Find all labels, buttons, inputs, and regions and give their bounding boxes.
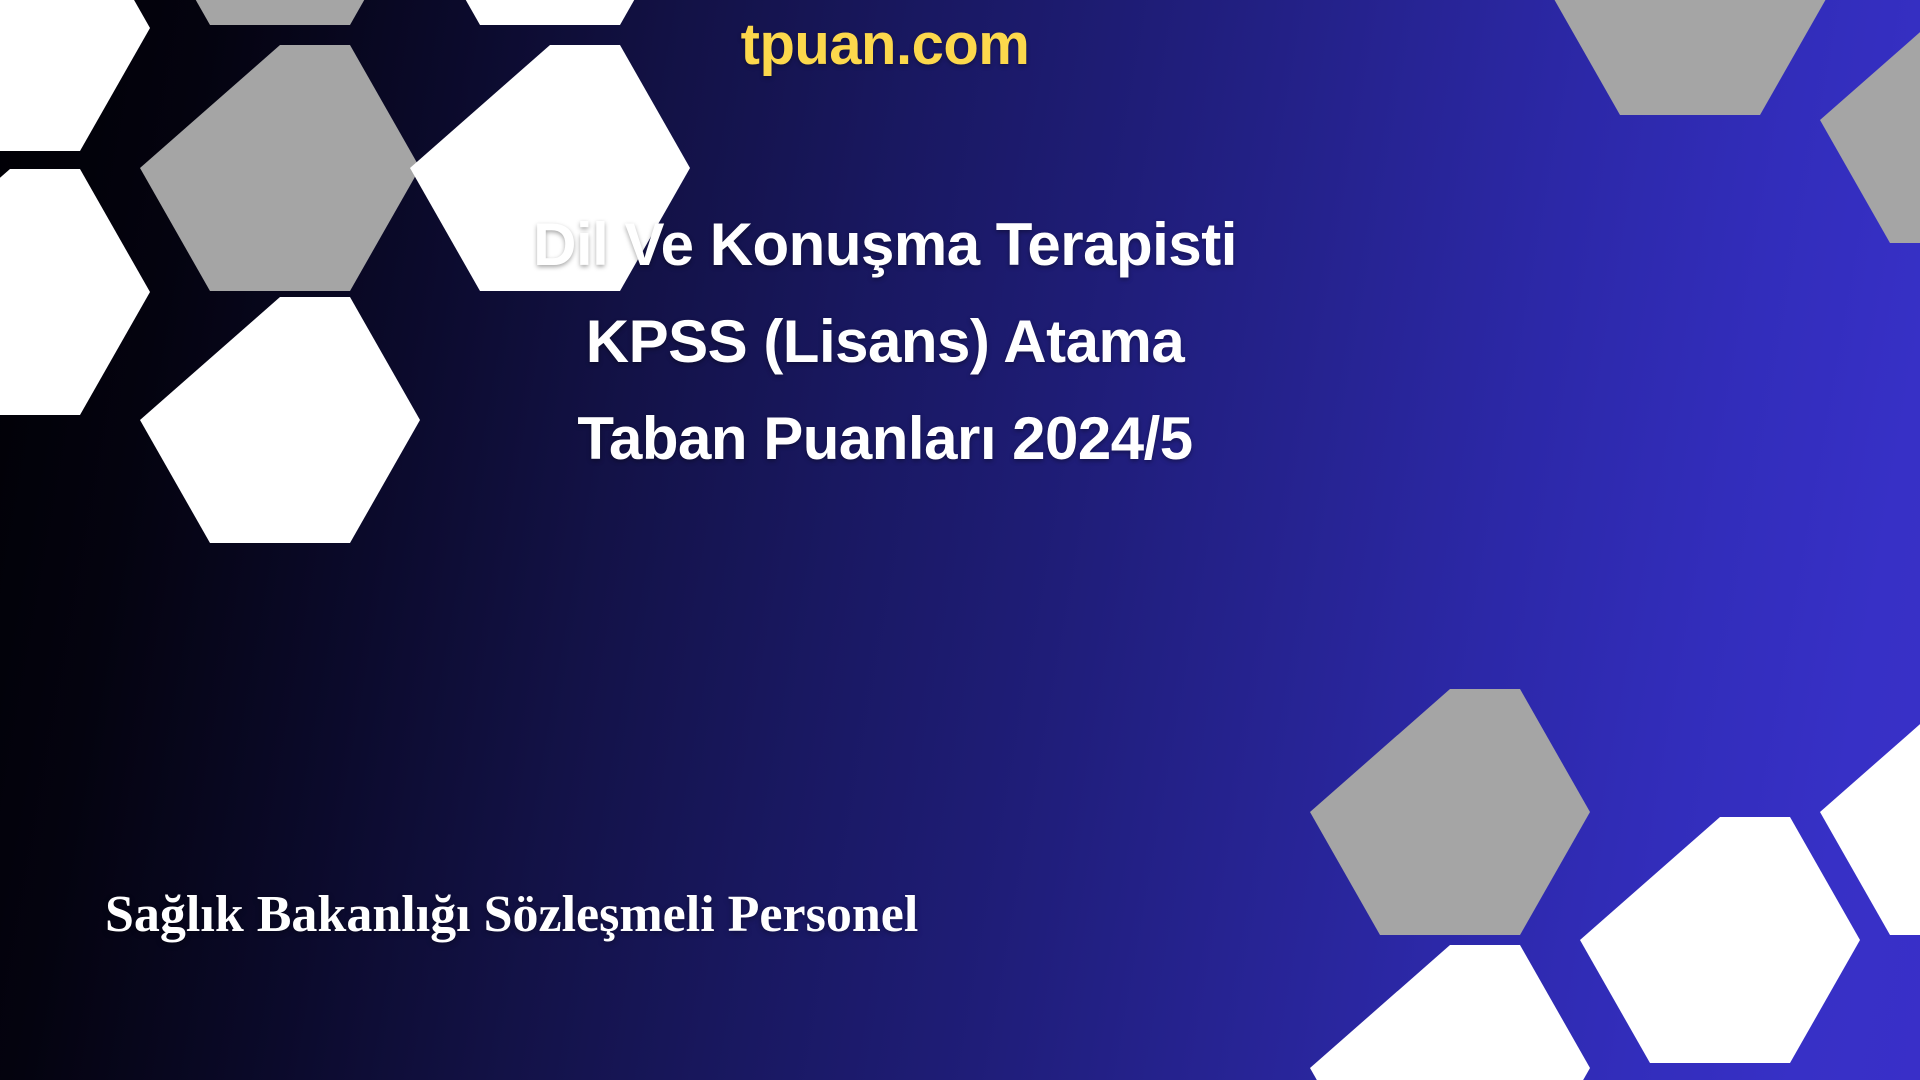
hex-br-white-1	[1580, 817, 1860, 1063]
hex-tl-white-4	[0, 169, 150, 415]
title-line-1: Dil Ve Konuşma Terapisti	[330, 196, 1440, 293]
banner-canvas: tpuan.com Dil Ve Konuşma Terapisti KPSS …	[0, 0, 1920, 1080]
hex-br-white-2	[1310, 945, 1590, 1080]
brand-logo-text: tpuan.com	[330, 8, 1440, 82]
hex-tr-gray-2	[1820, 0, 1920, 243]
hex-br-gray-1	[1310, 689, 1590, 935]
page-title: Dil Ve Konuşma Terapisti KPSS (Lisans) A…	[330, 196, 1440, 487]
hex-tl-white-1	[0, 0, 150, 151]
subtitle-text: Sağlık Bakanlığı Sözleşmeli Personel	[105, 882, 918, 948]
title-line-3: Taban Puanları 2024/5	[330, 390, 1440, 487]
title-line-2: KPSS (Lisans) Atama	[330, 293, 1440, 390]
hex-tr-gray-1	[1550, 0, 1830, 115]
